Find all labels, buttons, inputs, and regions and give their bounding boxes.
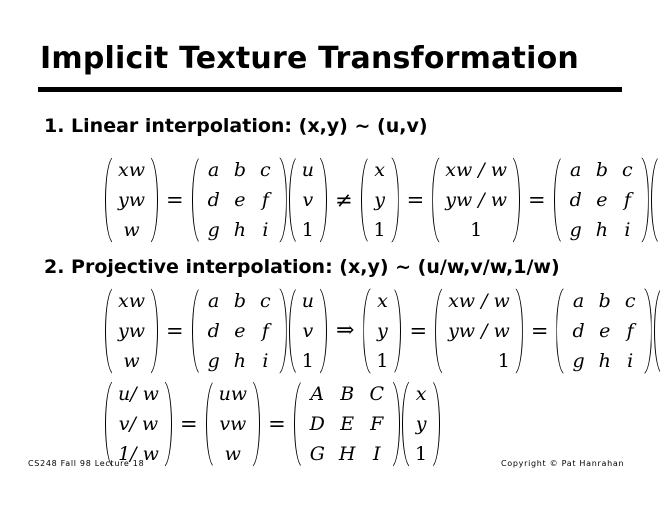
matrix-cell: i — [618, 346, 643, 376]
slide-canvas: Implicit Texture Transformation 1. Linea… — [0, 0, 660, 510]
bullet-item-2: 2. Projective interpolation: (x,y) ~ (u/… — [44, 256, 560, 278]
matrix-cell: i — [615, 215, 640, 245]
matrix-cell: I — [362, 439, 391, 469]
vector-u-v-1: u v 1 — [651, 155, 660, 245]
matrix-abc-def-ghi: a b c d e f g h i — [556, 286, 651, 376]
bullet-item-1: 1. Linear interpolation: (x,y) ~ (u,v) — [44, 115, 428, 137]
page-title: Implicit Texture Transformation — [40, 42, 579, 76]
matrix-cell: uw — [215, 379, 252, 409]
matrix-cell: e — [592, 316, 618, 346]
matrix-cell: A — [303, 379, 332, 409]
matrix-cell: e — [227, 316, 253, 346]
operator-equals: = — [261, 414, 293, 435]
matrix-cell: yw — [114, 316, 149, 346]
matrix-cell: a — [201, 286, 227, 316]
vector-xww-yww-1: xw / w yw / w 1 — [432, 155, 520, 245]
matrix-cell: 1 — [298, 346, 318, 376]
matrix-abc-def-ghi: a b c d e f g h i — [554, 155, 649, 245]
vector-xw-yw-w: xw yw w — [105, 155, 158, 245]
matrix-cell: b — [227, 155, 253, 185]
matrix-cell: xw / w — [444, 286, 514, 316]
matrix-cell: v — [298, 316, 318, 346]
matrix-cell: C — [362, 379, 391, 409]
matrix-cell: 1 — [411, 439, 431, 469]
matrix-cell: g — [201, 215, 227, 245]
matrix-cell: h — [227, 346, 253, 376]
matrix-cell: h — [589, 215, 615, 245]
operator-equals: = — [159, 190, 191, 211]
matrix-cell: vw — [215, 409, 252, 439]
matrix-cell: u — [298, 155, 318, 185]
matrix-cell: h — [592, 346, 618, 376]
vector-xww-yww-1: xw / w yw / w 1 — [435, 286, 523, 376]
matrix-cell: E — [332, 409, 363, 439]
equation-row-2: xw yw w = a b c d e f g h — [104, 283, 660, 379]
matrix-cell: 1 — [441, 215, 511, 245]
operator-equals: = — [524, 321, 556, 342]
matrix-cell: b — [227, 286, 253, 316]
matrix-cell: 1 — [298, 215, 318, 245]
footer-copyright: Copyright © Pat Hanrahan — [501, 459, 624, 468]
matrix-cell: g — [201, 346, 227, 376]
equation-row-1: xw yw w = a b c d e f g h — [104, 152, 660, 248]
matrix-cell: xw / w — [441, 155, 511, 185]
operator-equals: = — [400, 190, 432, 211]
matrix-cell: c — [253, 286, 278, 316]
matrix-cell: c — [615, 155, 640, 185]
matrix-cell: D — [303, 409, 332, 439]
matrix-cell: v — [298, 185, 318, 215]
matrix-cell: b — [592, 286, 618, 316]
matrix-cell: yw / w — [444, 316, 514, 346]
operator-equals: = — [521, 190, 553, 211]
vector-x-y-1: x y 1 — [361, 155, 399, 245]
matrix-cell: F — [362, 409, 391, 439]
matrix-cell: x — [372, 286, 392, 316]
matrix-cell: y — [372, 316, 392, 346]
vector-xw-yw-w: xw yw w — [105, 286, 158, 376]
matrix-cell: 1 — [372, 346, 392, 376]
matrix-cell: xw — [114, 155, 149, 185]
matrix-cell: u/ w — [114, 379, 163, 409]
matrix-cell: G — [303, 439, 332, 469]
matrix-cell: y — [411, 409, 431, 439]
matrix-cell: u — [298, 286, 318, 316]
matrix-cell: i — [253, 215, 278, 245]
matrix-cell: 1 — [370, 215, 390, 245]
matrix-cell: B — [332, 379, 363, 409]
footer-course-label: CS248 Fall 98 Lecture 18 — [28, 459, 144, 468]
matrix-cell: w — [215, 439, 252, 469]
matrix-cell: f — [253, 316, 278, 346]
matrix-cell: 1 — [444, 346, 514, 376]
vector-x-y-1: x y 1 — [363, 286, 401, 376]
matrix-cell: a — [565, 286, 591, 316]
vector-uw-vw-w: uw vw w — [206, 379, 261, 469]
matrix-cell: f — [253, 185, 278, 215]
equation-row-3: u/ w v/ w 1/ w = uw vw w = A B C D — [104, 376, 441, 472]
matrix-cell: y — [370, 185, 390, 215]
matrix-cell: w — [114, 346, 149, 376]
matrix-cell: h — [227, 215, 253, 245]
matrix-cell: d — [565, 316, 591, 346]
matrix-cell: e — [227, 185, 253, 215]
matrix-cell: c — [253, 155, 278, 185]
matrix-cell: w — [114, 215, 149, 245]
matrix-cell: d — [201, 316, 227, 346]
matrix-cell: v/ w — [114, 409, 163, 439]
operator-implies: ⇒ — [328, 320, 362, 342]
matrix-cell: yw / w — [441, 185, 511, 215]
matrix-abc-def-ghi: a b c d e f g h i — [192, 286, 287, 376]
matrix-ABC-DEF-GHI: A B C D E F G H I — [294, 379, 400, 469]
operator-equals: = — [402, 321, 434, 342]
matrix-cell: a — [201, 155, 227, 185]
matrix-cell: x — [370, 155, 390, 185]
title-divider — [38, 87, 622, 92]
matrix-cell: a — [563, 155, 589, 185]
vector-u-v-1: u v 1 — [289, 286, 327, 376]
matrix-cell: b — [589, 155, 615, 185]
operator-equals: = — [159, 321, 191, 342]
matrix-cell: g — [565, 346, 591, 376]
matrix-cell: d — [563, 185, 589, 215]
vector-uw-vw-1w: u / w v / w 1/ w — [654, 286, 660, 376]
vector-x-y-1: x y 1 — [402, 379, 440, 469]
matrix-cell: f — [618, 316, 643, 346]
matrix-cell: xw — [114, 286, 149, 316]
matrix-cell: e — [589, 185, 615, 215]
matrix-abc-def-ghi: a b c d e f g h i — [192, 155, 287, 245]
matrix-cell: f — [615, 185, 640, 215]
matrix-cell: i — [253, 346, 278, 376]
matrix-cell: yw — [114, 185, 149, 215]
vector-u-v-1: u v 1 — [289, 155, 327, 245]
matrix-cell: c — [618, 286, 643, 316]
matrix-cell: H — [332, 439, 363, 469]
operator-equals: = — [173, 414, 205, 435]
vector-uw-vw-1w: u/ w v/ w 1/ w — [105, 379, 172, 469]
matrix-cell: g — [563, 215, 589, 245]
matrix-cell: d — [201, 185, 227, 215]
operator-not-equals: ≠ — [328, 190, 360, 211]
matrix-cell: x — [411, 379, 431, 409]
